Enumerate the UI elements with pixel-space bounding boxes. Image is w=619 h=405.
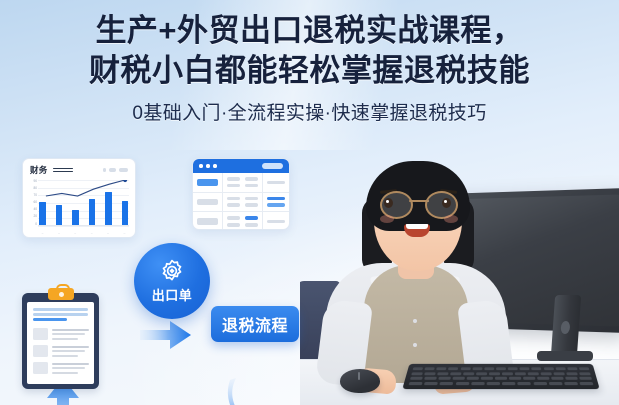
document-clipboard bbox=[22, 288, 99, 389]
list-item bbox=[33, 362, 89, 374]
chart-y-axis: 9080706040200 bbox=[29, 180, 37, 226]
menu-lines-icon bbox=[53, 168, 73, 173]
chart-bars bbox=[39, 186, 128, 226]
table-cell bbox=[263, 212, 289, 230]
chart-axis-line bbox=[38, 225, 129, 226]
poster-header: 生产+外贸出口退税实战课程， 财税小白都能轻松掌握退税技能 0基础入门·全流程实… bbox=[0, 12, 619, 125]
cheek-right bbox=[444, 215, 458, 223]
chart-bar bbox=[89, 199, 96, 226]
bar-chart-plot: 9080706040200 ------------ bbox=[29, 180, 129, 236]
table-cell bbox=[223, 212, 262, 230]
mouse bbox=[340, 369, 380, 393]
table-column-middle bbox=[223, 173, 263, 230]
arrow-down-icon bbox=[224, 378, 272, 405]
list-item bbox=[33, 345, 89, 357]
monitor-stand-neck bbox=[551, 295, 581, 357]
monitor-stand-foot bbox=[537, 351, 593, 361]
table-cell bbox=[263, 193, 289, 213]
shirt-button bbox=[413, 343, 417, 347]
export-order-badge: 出口单 bbox=[134, 243, 210, 319]
workspace-scene bbox=[300, 120, 619, 405]
finance-chart-card: 财务 9080706040200 ------------ bbox=[22, 158, 136, 238]
poster-subtitle: 0基础入门·全流程实操·快速掌握退税技巧 bbox=[0, 98, 619, 125]
chip bbox=[197, 218, 218, 225]
table-column-right bbox=[263, 173, 289, 230]
course-promo-poster: 生产+外贸出口退税实战课程， 财税小白都能轻松掌握退税技能 0基础入门·全流程实… bbox=[0, 0, 619, 405]
table-grid bbox=[193, 173, 289, 229]
eye-left bbox=[384, 198, 393, 208]
workflow-infographic: 财务 9080706040200 ------------ bbox=[0, 140, 320, 405]
keyboard-keys bbox=[409, 367, 594, 385]
keyboard bbox=[402, 364, 599, 389]
chart-card-header: 财务 bbox=[23, 159, 135, 179]
chart-x-labels: ------------ bbox=[39, 231, 128, 235]
clipboard-header-lines bbox=[33, 308, 88, 321]
chart-bar bbox=[39, 202, 46, 226]
female-accountant-avatar bbox=[322, 133, 512, 383]
headline-line-2: 财税小白都能轻松掌握退税技能 bbox=[0, 52, 619, 90]
refund-process-tag: 退税流程 bbox=[211, 306, 299, 342]
chip bbox=[197, 199, 218, 206]
clipboard-board bbox=[22, 293, 99, 389]
clipboard-paper bbox=[27, 302, 94, 384]
selected-chip bbox=[197, 179, 218, 186]
table-cell bbox=[223, 193, 262, 213]
clipboard-content-rows bbox=[33, 328, 89, 374]
system-table-card bbox=[192, 158, 290, 230]
table-cell bbox=[193, 212, 222, 230]
chart-bar bbox=[105, 192, 112, 226]
address-pill-icon bbox=[262, 163, 283, 169]
chart-bar bbox=[72, 210, 79, 226]
shirt-button bbox=[413, 319, 417, 323]
gear-diamond-icon bbox=[160, 259, 184, 283]
table-cell bbox=[263, 173, 289, 193]
clipboard-clip-icon bbox=[48, 288, 74, 300]
cheek-left bbox=[380, 215, 394, 223]
eye-right bbox=[442, 198, 451, 208]
chart-bar bbox=[122, 201, 129, 226]
chart-header-dots-icon bbox=[103, 168, 128, 171]
table-column-left bbox=[193, 173, 223, 230]
table-cell bbox=[193, 193, 222, 213]
chart-card-title: 财务 bbox=[30, 164, 48, 176]
window-dots-icon bbox=[199, 164, 217, 168]
headline-line-1: 生产+外贸出口退税实战课程， bbox=[0, 12, 619, 50]
export-order-label: 出口单 bbox=[152, 285, 193, 304]
browser-title-bar bbox=[193, 159, 289, 173]
chart-bar bbox=[56, 205, 63, 226]
table-cell bbox=[193, 173, 222, 193]
arrow-right-icon bbox=[140, 318, 192, 352]
table-cell bbox=[223, 173, 262, 193]
list-item bbox=[33, 328, 89, 340]
